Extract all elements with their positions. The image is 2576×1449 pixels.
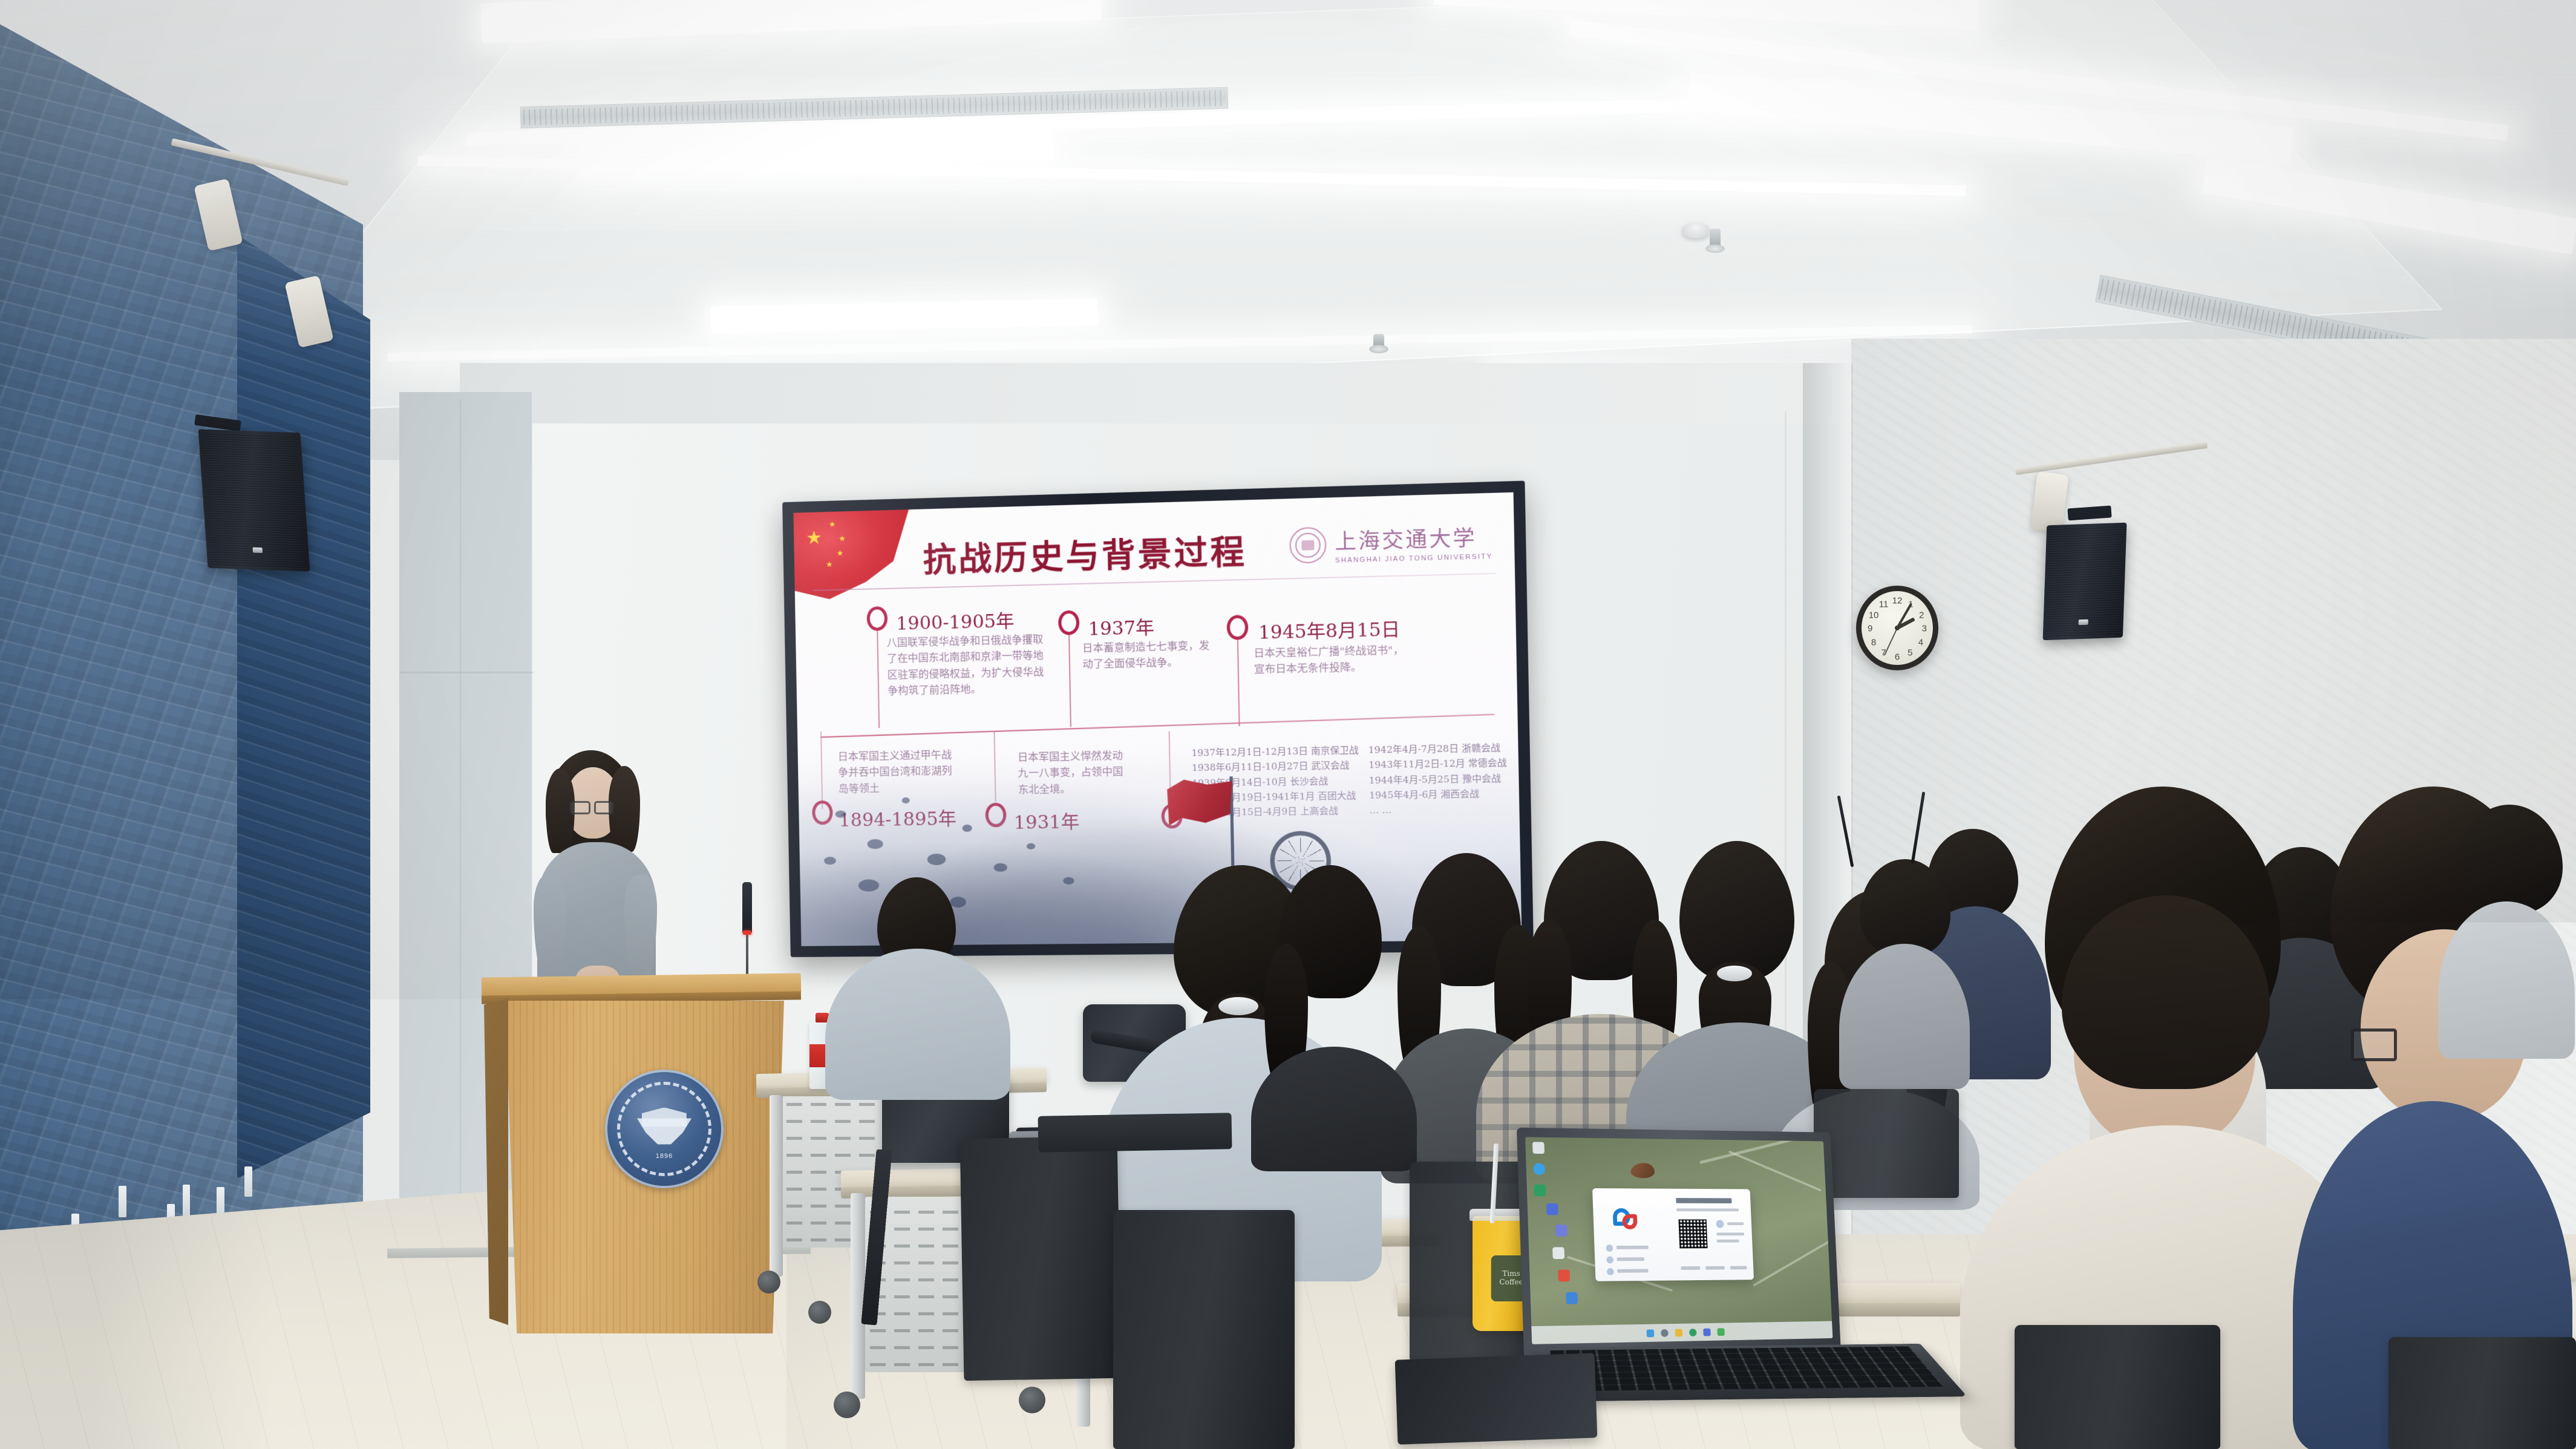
- app-logo-red-icon: [1622, 1214, 1638, 1229]
- wallpaper-branch-2: [1728, 1151, 1822, 1192]
- sjtu-logo-en: SHANGHAI JIAO TONG UNIVERSITY: [1335, 553, 1493, 564]
- browser-icon[interactable]: [1689, 1329, 1697, 1336]
- desk-caster: [808, 1301, 831, 1324]
- presenter-glasses: [570, 801, 590, 814]
- timeline-desc-1945: 日本天皇裕仁广播"终战诏书"，宣布日本无条件投降。: [1254, 643, 1405, 678]
- wall-marker-5: [244, 1166, 252, 1197]
- dialog-side-line-1: [1727, 1222, 1744, 1225]
- dialog-subtitle-text: [1676, 1208, 1739, 1211]
- desk-caster: [757, 1271, 780, 1294]
- sjtu-logo-cn: 上海交通大学: [1335, 520, 1492, 555]
- sjtu-logo: 上海交通大学 SHANGHAI JIAO TONG UNIVERSITY: [1289, 520, 1492, 566]
- qr-signin-dialog[interactable]: [1592, 1188, 1754, 1281]
- desktop-icon-4[interactable]: [1546, 1203, 1558, 1215]
- laptop[interactable]: [1517, 1128, 1842, 1372]
- dialog-row-text-2: [1617, 1257, 1644, 1261]
- clock-numeral: 8: [1871, 638, 1876, 648]
- dialog-row-text-1: [1617, 1246, 1649, 1249]
- laptop-keyboard[interactable]: [1550, 1346, 1944, 1391]
- desktop-icon-3[interactable]: [1534, 1185, 1546, 1197]
- sprinkler-head-1: [1710, 229, 1721, 249]
- sjtu-seal-icon: [1289, 527, 1327, 564]
- dialog-row-text-3: [1617, 1269, 1648, 1272]
- clock-numeral: 10: [1869, 610, 1879, 621]
- chat-icon[interactable]: [1717, 1328, 1725, 1336]
- slide-title: 抗战历史与背景过程: [923, 525, 1247, 581]
- slide-photo-red-flag: [1167, 779, 1233, 832]
- wall-marker-3: [183, 1185, 190, 1216]
- dialog-row-icon-3: [1607, 1268, 1614, 1275]
- podium-microphone-indicator: [743, 931, 751, 935]
- clock-numeral: 11: [1879, 599, 1889, 609]
- back-wall-seam-3: [399, 672, 534, 673]
- back-wall-seam-2: [460, 399, 461, 1258]
- timeline-year-1937: 1937年: [1088, 612, 1154, 641]
- clock-numeral: 5: [1907, 648, 1912, 658]
- search-icon[interactable]: [1661, 1329, 1669, 1336]
- timeline-year-1945: 1945年8月15日: [1258, 614, 1401, 644]
- second-device-on-desk[interactable]: [1395, 1353, 1598, 1444]
- chair-6[interactable]: [1814, 1089, 1959, 1198]
- emblem-year: 1896: [656, 1153, 673, 1160]
- dialog-title-text: [1676, 1198, 1731, 1203]
- desktop-icon-8[interactable]: [1566, 1292, 1578, 1304]
- student-6-hair-tie: [1717, 966, 1752, 981]
- sprinkler-head-2: [1373, 334, 1384, 350]
- chair-4[interactable]: [2015, 1325, 2220, 1449]
- laptop-keyboard-base[interactable]: [1537, 1344, 1967, 1402]
- wall-marker-1: [119, 1186, 126, 1217]
- student-10-glasses: [2351, 1029, 2397, 1061]
- sjtu-podium-emblem: 1896: [605, 1070, 724, 1188]
- student-14-torso: [1839, 944, 1970, 1089]
- timeline-year-1900: 1900-1905年: [896, 606, 1015, 635]
- dialog-footer-3[interactable]: [1730, 1266, 1747, 1269]
- dialog-footer-2[interactable]: [1705, 1266, 1725, 1270]
- start-icon[interactable]: [1647, 1329, 1655, 1337]
- dialog-side-line-2: [1716, 1232, 1744, 1235]
- desk-caster: [1019, 1387, 1045, 1413]
- wallpaper-branch-1: [1699, 1137, 1820, 1164]
- timeline-desc-1937: 日本蓄意制造七七事变，发动了全面侵华战争。: [1082, 638, 1219, 673]
- podium-microphone-head: [742, 882, 752, 933]
- windows-taskbar[interactable]: [1531, 1321, 1832, 1344]
- student-1-torso: [825, 949, 1010, 1100]
- presenter-glasses-right: [594, 801, 613, 814]
- clock-center-hub: [1895, 626, 1900, 630]
- mail-icon[interactable]: [1703, 1328, 1711, 1336]
- wall-speaker-right: [2043, 523, 2127, 641]
- clock-numeral: 4: [1918, 638, 1923, 648]
- desktop-icon-6[interactable]: [1552, 1247, 1564, 1259]
- qr-code[interactable]: [1676, 1218, 1709, 1251]
- dialog-footer-1[interactable]: [1681, 1266, 1700, 1270]
- timeline-desc-1900: 八国联军侵华战争和日俄战争攫取了在中国东北南部和京津一带等地区驻军的侵略权益，为…: [887, 632, 1053, 699]
- presenter: [520, 750, 678, 1004]
- clock-numeral: 6: [1895, 652, 1900, 662]
- desk-leg: [770, 1095, 783, 1277]
- student-4: [1246, 865, 1422, 1168]
- dialog-row-icon-1: [1606, 1245, 1613, 1252]
- clock-numeral: 3: [1922, 624, 1927, 634]
- dialog-avatar: [1716, 1220, 1724, 1228]
- desktop-icon-7[interactable]: [1558, 1270, 1570, 1282]
- clock-numeral: 2: [1919, 610, 1924, 621]
- dialog-row-icon-2: [1606, 1257, 1613, 1264]
- student-13: [2438, 805, 2576, 1059]
- clock-face: 12 1 2 3 4 5 6 7 8 9 10 11: [1862, 591, 1933, 665]
- student-13-hair: [2456, 805, 2563, 914]
- chair-5[interactable]: [2388, 1337, 2576, 1449]
- desktop-icon-1[interactable]: [1532, 1142, 1545, 1154]
- clock-numeral: 12: [1892, 595, 1903, 606]
- left-blue-wall-return: [237, 235, 370, 1179]
- wall-speaker-left: [198, 429, 310, 571]
- chair-2[interactable]: [1113, 1210, 1295, 1449]
- dialog-side-line-3: [1717, 1240, 1739, 1243]
- student-13-torso: [2438, 901, 2575, 1059]
- laptop-screen[interactable]: [1525, 1137, 1832, 1344]
- student-1: [811, 877, 1022, 1119]
- chair-cushion: [1038, 1113, 1232, 1153]
- timeline-axis: [820, 714, 1494, 738]
- desk-caster: [834, 1392, 860, 1418]
- explorer-icon[interactable]: [1675, 1329, 1683, 1336]
- chair-1[interactable]: [960, 1136, 1122, 1381]
- student-14-hair: [1860, 859, 1950, 956]
- desktop-icon-2[interactable]: [1533, 1163, 1545, 1175]
- clock-numeral: 9: [1868, 624, 1872, 634]
- wallpaper-branch-4: [1753, 1236, 1832, 1287]
- classroom-presentation-scene: ★ ★ ★ ★ ★ 抗战历史与背景过程 上海交通大学 SHANGHAI JIAO…: [0, 0, 2576, 1449]
- desktop-icon-5[interactable]: [1555, 1225, 1568, 1237]
- student-14: [1839, 859, 1972, 1089]
- smoke-detector: [1682, 223, 1710, 238]
- wallpaper-bird: [1630, 1163, 1655, 1178]
- wall-clock: 12 1 2 3 4 5 6 7 8 9 10 11: [1856, 586, 1938, 670]
